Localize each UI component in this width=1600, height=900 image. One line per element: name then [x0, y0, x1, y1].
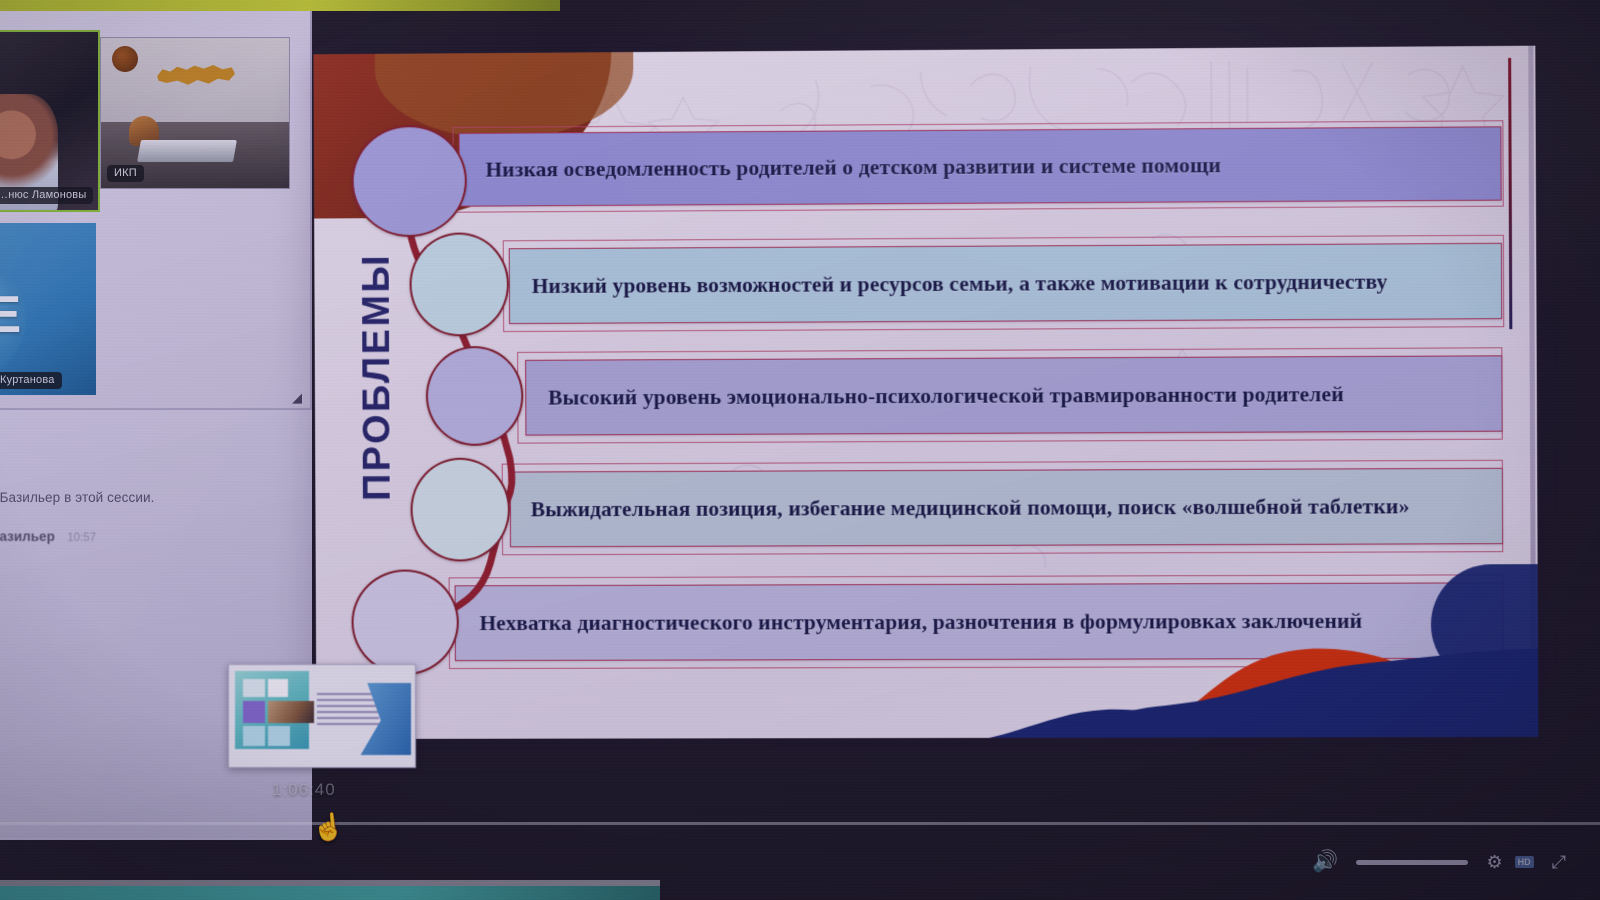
page-title: ПРОБЛЕМЫ	[356, 253, 400, 501]
gear-icon[interactable]: ⚙	[1486, 852, 1502, 873]
presentation-slide: ПРОБЛЕМЫ Низкая осведомленность родителе…	[313, 46, 1538, 739]
player-controls: 🔊 ⚙ HD ⤢	[1312, 850, 1566, 874]
preview-thumb-text	[317, 693, 379, 727]
volume-slider[interactable]	[1356, 860, 1468, 865]
row-circle-5	[351, 569, 459, 675]
fullscreen-icon[interactable]: ⤢	[1552, 852, 1566, 873]
participant-tile-2[interactable]: ИКП	[100, 37, 290, 189]
participant-name-label: ИКП	[107, 165, 144, 182]
participant-tile-1[interactable]: …нюс Ламоновы	[0, 30, 100, 212]
playback-timestamp: 1:06:40	[272, 780, 336, 800]
row-circle-2	[409, 232, 509, 336]
mouse-cursor-pointer-icon: ☝	[310, 810, 345, 844]
participant-name-label: …нюс Ламоновы	[0, 187, 93, 204]
quality-badge[interactable]: HD	[1515, 856, 1534, 868]
chat-timestamp: 10:57	[67, 532, 96, 544]
chat-author: …азильер	[0, 529, 55, 544]
desk-strip-top	[0, 0, 560, 11]
laptop-object	[137, 140, 237, 162]
preview-thumb-left	[235, 671, 309, 749]
chat-panel[interactable]: …Базильер в этой сессии. …азильер 10:57	[0, 408, 312, 838]
resize-corner-icon[interactable]: ◢	[292, 390, 302, 406]
chat-message-text: …Базильер в этой сессии.	[0, 488, 302, 508]
video-scrub-preview	[228, 664, 416, 768]
row-circle-3	[426, 346, 524, 446]
logo-letters: ОЕ	[0, 285, 25, 345]
desk-strip-bottom	[0, 886, 660, 900]
row-circle-1	[351, 125, 467, 237]
mic-muted-icon	[112, 46, 138, 72]
monitor-photo: …нюс Ламоновы ИКП ОЕ …на Куртанова ◢ ⤢ ……	[0, 0, 1600, 900]
row-circle-4	[410, 458, 510, 562]
player-seek-bar[interactable]	[0, 822, 1600, 825]
participant-tile-3[interactable]: ОЕ …на Куртанова	[0, 223, 96, 395]
chat-message-meta: …азильер 10:57	[0, 528, 302, 546]
participant-name-label: …на Куртанова	[0, 372, 62, 389]
volume-icon[interactable]: 🔊	[1312, 850, 1338, 874]
